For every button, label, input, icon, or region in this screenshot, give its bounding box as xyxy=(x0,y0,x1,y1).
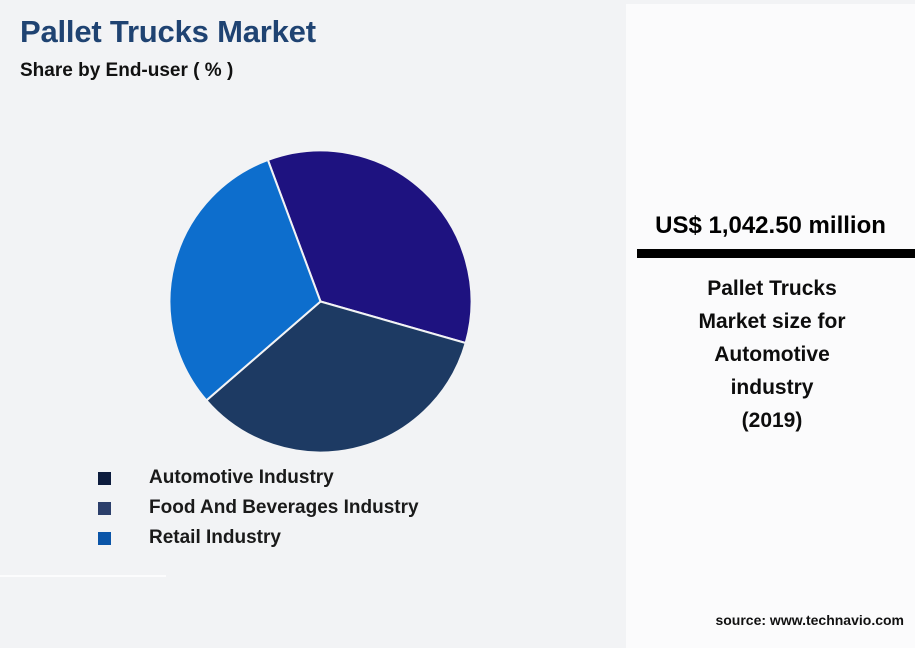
callout-caption-line: industry xyxy=(646,371,898,404)
footer-divider xyxy=(0,575,166,577)
chart-panel: Pallet Trucks Market Share by End-user (… xyxy=(0,0,626,648)
pie-chart-svg xyxy=(168,149,473,454)
legend-item-automotive-industry[interactable]: Automotive Industry xyxy=(98,463,578,493)
legend-swatch-icon xyxy=(98,472,111,485)
callout-caption-line: Market size for xyxy=(646,305,898,338)
legend-item-retail-industry[interactable]: Retail Industry xyxy=(98,523,578,553)
callout-caption-line: (2019) xyxy=(646,404,898,437)
source-note: source: www.technavio.com xyxy=(626,612,904,628)
chart-legend: Automotive Industry Food And Beverages I… xyxy=(98,463,578,553)
callout-value: US$ 1,042.50 million xyxy=(626,212,915,240)
legend-item-label: Retail Industry xyxy=(149,527,281,549)
callout-caption: Pallet Trucks Market size for Automotive… xyxy=(646,272,898,437)
chart-subtitle: Share by End-user ( % ) xyxy=(20,60,233,82)
legend-swatch-icon xyxy=(98,532,111,545)
callout-panel: US$ 1,042.50 million Pallet Trucks Marke… xyxy=(626,0,915,648)
legend-swatch-icon xyxy=(98,502,111,515)
page-title: Pallet Trucks Market xyxy=(20,14,316,50)
callout-caption-line: Automotive xyxy=(646,338,898,371)
legend-item-label: Automotive Industry xyxy=(149,467,334,489)
infographic-root: Pallet Trucks Market Share by End-user (… xyxy=(0,0,915,648)
callout-divider xyxy=(637,249,915,258)
callout-caption-line: Pallet Trucks xyxy=(646,272,898,305)
pie-chart xyxy=(168,149,473,454)
pie-slice-group xyxy=(169,151,471,453)
panel-top-strip xyxy=(626,0,915,4)
legend-item-label: Food And Beverages Industry xyxy=(149,497,419,519)
legend-item-food-and-beverages-industry[interactable]: Food And Beverages Industry xyxy=(98,493,578,523)
